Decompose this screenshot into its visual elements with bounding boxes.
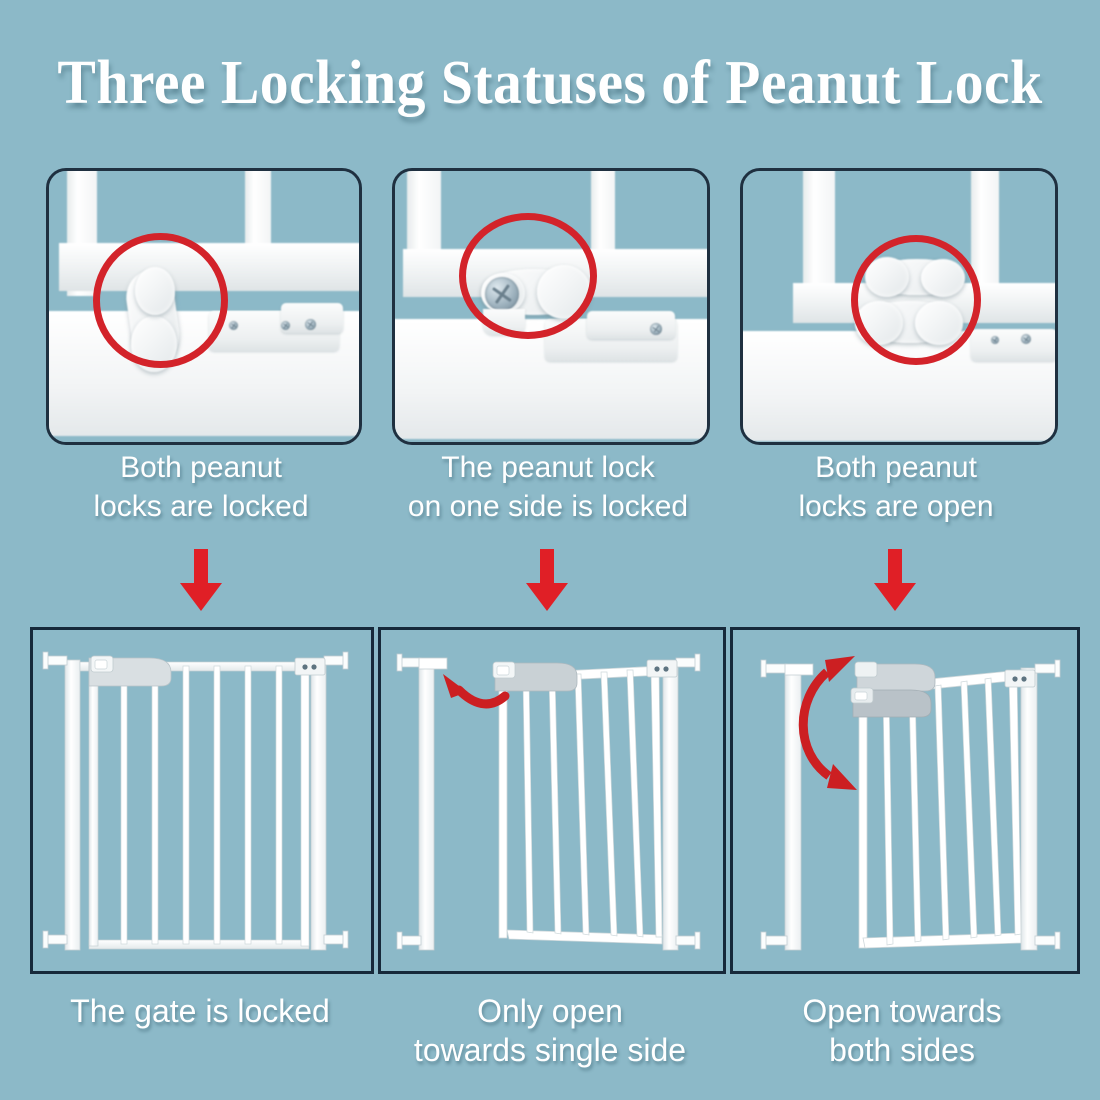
gate-diagram-single-side	[381, 630, 723, 971]
gate-diagram-locked	[33, 630, 371, 971]
photo-panel-one-side-locked	[392, 168, 710, 445]
down-arrow-icon	[178, 549, 224, 611]
page-title: Three Locking Statuses of Peanut Lock	[39, 48, 1062, 118]
gate-panel-both-sides	[730, 627, 1080, 974]
gate-panel-single-side	[378, 627, 726, 974]
red-circle-icon	[459, 213, 597, 339]
photo-both-open	[743, 171, 1055, 442]
photo-panel-both-open	[740, 168, 1058, 445]
caption-both-sides: Open towards both sides	[728, 992, 1076, 1070]
caption-both-open: Both peanut locks are open	[740, 448, 1052, 526]
down-arrow-icon	[872, 549, 918, 611]
gate-panel-locked	[30, 627, 374, 974]
gate-diagram-both-sides	[733, 630, 1077, 971]
caption-single-side: Only open towards single side	[378, 992, 722, 1070]
caption-both-locked: Both peanut locks are locked	[46, 448, 356, 526]
caption-gate-locked: The gate is locked	[30, 992, 370, 1031]
red-circle-icon	[851, 235, 981, 365]
photo-both-locked	[49, 171, 359, 442]
infographic-page: Three Locking Statuses of Peanut Lock	[0, 0, 1100, 1100]
red-circle-icon	[93, 233, 228, 368]
photo-one-side-locked	[395, 171, 707, 442]
photo-panel-both-locked	[46, 168, 362, 445]
curved-arrow-double-icon	[803, 656, 857, 790]
down-arrow-icon	[524, 549, 570, 611]
caption-one-side-locked: The peanut lock on one side is locked	[392, 448, 704, 526]
